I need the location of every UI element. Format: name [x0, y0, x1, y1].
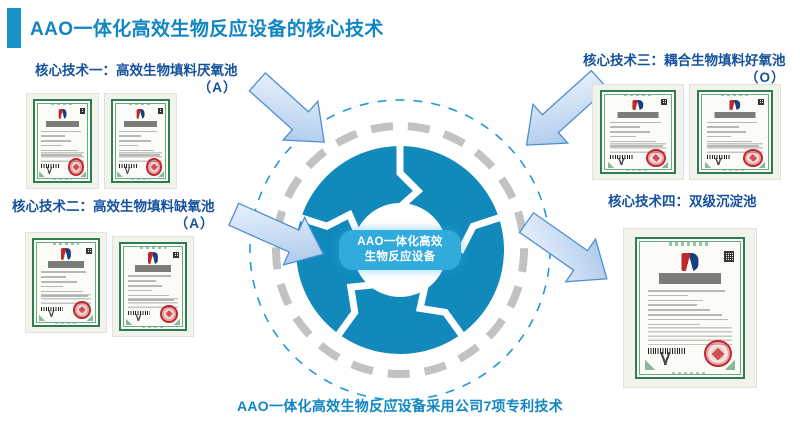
tech-two-heading: 核心技术二：高效生物填料缺氧池 （A）	[12, 198, 215, 232]
tech-four-label: 核心技术四：双级沉淀池	[608, 194, 757, 209]
tech-four-heading: 核心技术四：双级沉淀池	[608, 193, 757, 210]
tech-three-label: 核心技术三：耦合生物填料好氧池	[583, 53, 786, 68]
tech-two-sub: （A）	[12, 215, 215, 232]
slide-canvas: AAO一体化高效生物反应设备的核心技术	[0, 0, 800, 439]
center-label-line2: 生物反应设备	[365, 250, 436, 265]
arrow-bottom-left	[228, 192, 338, 277]
certificate-1a	[26, 93, 99, 189]
tech-one-heading: 核心技术一：高效生物填料厌氧池 （A）	[35, 62, 238, 96]
tech-one-label: 核心技术一：高效生物填料厌氧池	[35, 63, 238, 78]
arrow-top-left	[243, 72, 343, 157]
tech-three-heading: 核心技术三：耦合生物填料好氧池 （O）	[583, 52, 786, 86]
center-label: AAO一体化高效 生物反应设备	[339, 230, 461, 270]
tech-two-label: 核心技术二：高效生物填料缺氧池	[12, 199, 215, 214]
certificate-2a	[25, 232, 107, 333]
footer-caption: AAO一体化高效生物反应设备采用公司7项专利技术	[0, 396, 800, 416]
arrow-bottom-right	[515, 208, 625, 298]
center-label-line1: AAO一体化高效	[357, 235, 442, 250]
certificate-1b	[104, 93, 177, 189]
certificate-3b	[689, 84, 781, 180]
certificate-2b	[112, 236, 194, 337]
title-accent-bar	[7, 8, 21, 48]
certificate-4a	[623, 228, 757, 388]
certificate-3a	[592, 84, 684, 180]
page-title: AAO一体化高效生物反应设备的核心技术	[30, 14, 384, 41]
